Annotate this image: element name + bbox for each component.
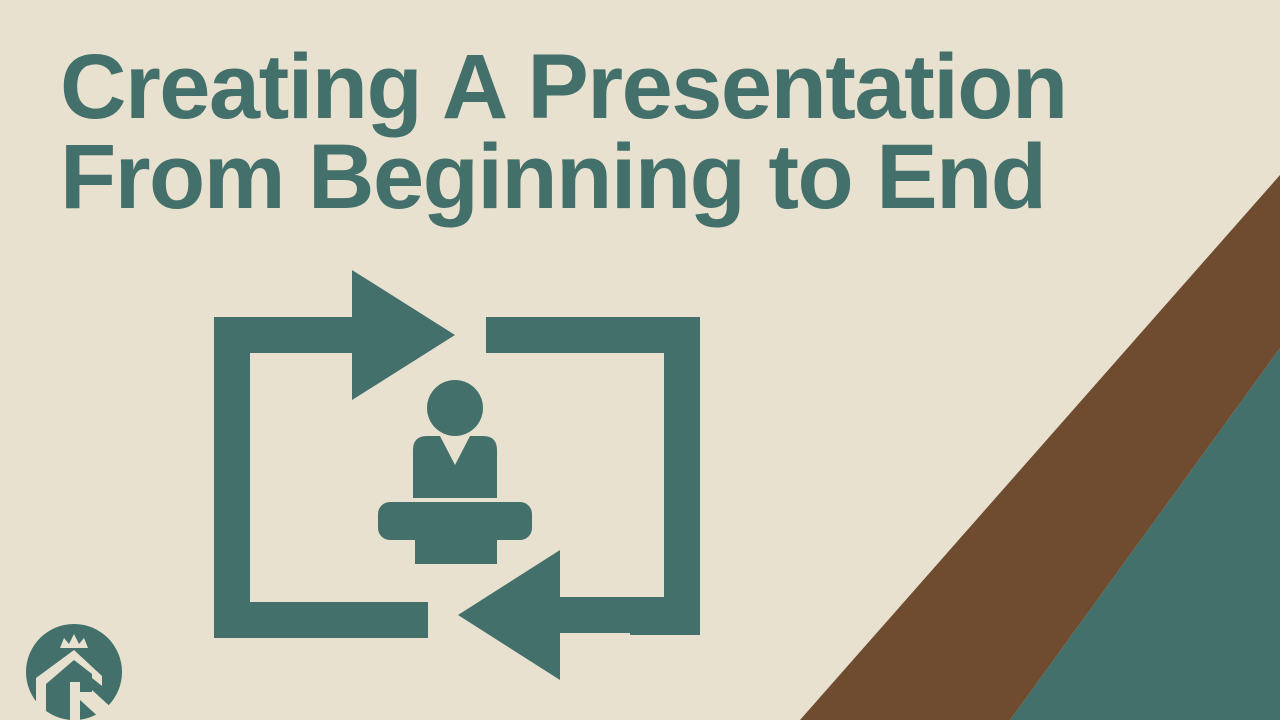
presentation-cycle-icon bbox=[200, 250, 720, 690]
diagonal-teal-corner bbox=[1010, 348, 1280, 720]
title-line-1: Creating A Presentation bbox=[60, 42, 1190, 132]
bottom-left-bracket bbox=[214, 566, 428, 638]
top-left-arrow-connector bbox=[214, 317, 354, 353]
page-title: Creating A Presentation From Beginning t… bbox=[60, 42, 1190, 222]
bottom-right-arrow-connector bbox=[560, 597, 700, 633]
podium-desk bbox=[378, 502, 532, 540]
presenter-head bbox=[427, 380, 483, 436]
title-line-2: From Beginning to End bbox=[60, 132, 1190, 222]
diagonal-brown-band bbox=[800, 175, 1280, 720]
title-slide: Creating A Presentation From Beginning t… bbox=[0, 0, 1280, 720]
crowned-r-monogram-logo[interactable] bbox=[18, 616, 130, 720]
left-arrow-head bbox=[458, 550, 560, 680]
presenter-body bbox=[413, 436, 497, 498]
top-left-bracket bbox=[214, 317, 352, 602]
right-arrow-head bbox=[352, 270, 455, 400]
podium-base bbox=[415, 540, 497, 564]
